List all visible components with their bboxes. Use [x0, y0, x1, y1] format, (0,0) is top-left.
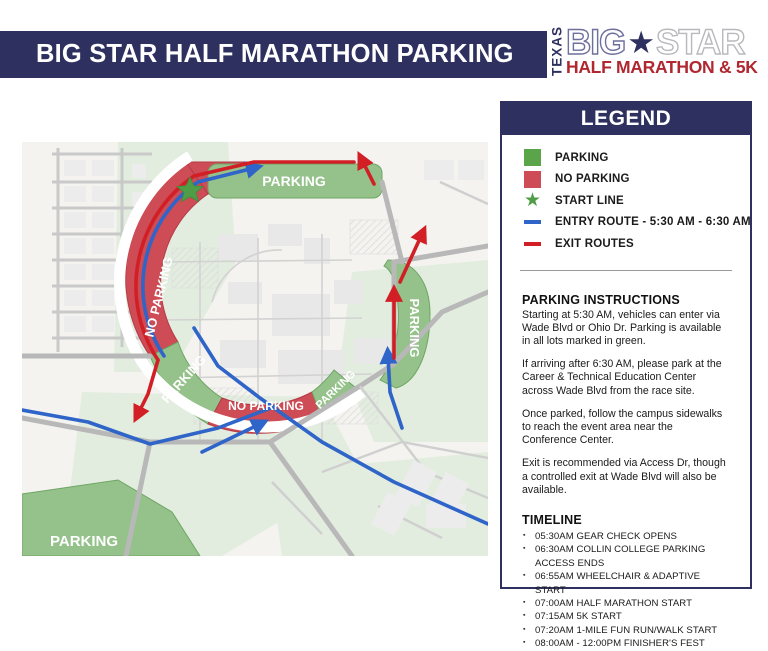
legend-item-start-line: ★ START LINE — [524, 190, 750, 212]
legend-item-exit-routes: EXIT ROUTES — [524, 233, 750, 255]
legend-item-parking: PARKING — [524, 147, 750, 169]
logo-star-text: STAR — [656, 25, 745, 60]
start-line-star-icon: ★ — [524, 192, 541, 209]
map-canvas[interactable]: NO PARKING PARKING NO PARKING PARKING PA… — [22, 142, 488, 556]
header-bar: BIG STAR HALF MARATHON PARKING — [0, 31, 547, 78]
timeline-event: 07:00AM HALF MARATHON START — [522, 597, 730, 610]
timeline-event: 06:30AM COLLIN COLLEGE PARKING ACCESS EN… — [522, 543, 730, 570]
parking-swatch-icon — [524, 149, 541, 166]
legend-title: LEGEND — [581, 107, 672, 131]
no-parking-swatch-icon — [524, 171, 541, 188]
legend-item-no-parking: NO PARKING — [524, 169, 750, 191]
timeline-event: 07:15AM 5K START — [522, 610, 730, 623]
page-title: BIG STAR HALF MARATHON PARKING — [0, 40, 514, 69]
timeline-event-list: 05:30AM GEAR CHECK OPENS 06:30AM COLLIN … — [522, 530, 730, 651]
legend-label-exit-routes: EXIT ROUTES — [555, 238, 634, 250]
map-label-parking-north: PARKING — [262, 173, 326, 189]
instructions-paragraph: Exit is recommended via Access Dr, thoug… — [522, 457, 730, 497]
entry-route-line-icon — [524, 220, 541, 224]
map-label-parking-east: PARKING — [407, 299, 422, 358]
parking-map[interactable]: NO PARKING PARKING NO PARKING PARKING PA… — [22, 142, 488, 556]
timeline-event: 06:55AM WHEELCHAIR & ADAPTIVE START — [522, 570, 730, 597]
instructions-paragraph: Starting at 5:30 AM, vehicles can enter … — [522, 309, 730, 349]
logo-texas-text: TEXAS — [548, 28, 566, 74]
star-icon: ★ — [627, 27, 655, 58]
timeline-event: 08:00AM - 12:00PM FINISHER'S FEST — [522, 637, 730, 650]
timeline-event: 07:20AM 1-MILE FUN RUN/WALK START — [522, 624, 730, 637]
exit-route-line-icon — [524, 242, 541, 246]
instructions-title: PARKING INSTRUCTIONS — [522, 293, 730, 307]
legend-label-no-parking: NO PARKING — [555, 173, 630, 185]
legend-panel: LEGEND PARKING NO PARKING ★ START LINE E… — [500, 101, 752, 589]
legend-label-start-line: START LINE — [555, 195, 624, 207]
map-label-no-parking-south: NO PARKING — [228, 399, 304, 413]
timeline-section: TIMELINE 05:30AM GEAR CHECK OPENS 06:30A… — [502, 497, 750, 651]
logo-big-text: BIG — [566, 25, 625, 60]
legend-item-entry-route: ENTRY ROUTE - 5:30 AM - 6:30 AM — [524, 212, 750, 234]
logo-subtitle: HALF MARATHON & 5K — [566, 57, 748, 78]
event-logo: TEXAS BIG ★ STAR HALF MARATHON & 5K — [548, 22, 748, 84]
legend-header: LEGEND — [502, 103, 750, 135]
instructions-paragraph: Once parked, follow the campus sidewalks… — [522, 408, 730, 448]
legend-item-list: PARKING NO PARKING ★ START LINE ENTRY RO… — [502, 135, 750, 261]
logo-bigstar-wordmark: BIG ★ STAR — [566, 22, 748, 62]
parking-instructions-section: PARKING INSTRUCTIONS Starting at 5:30 AM… — [502, 271, 750, 497]
legend-label-parking: PARKING — [555, 152, 609, 164]
timeline-title: TIMELINE — [522, 513, 730, 527]
legend-label-entry-route: ENTRY ROUTE - 5:30 AM - 6:30 AM — [555, 216, 751, 228]
map-label-parking-bottom-left: PARKING — [50, 533, 118, 550]
timeline-event: 05:30AM GEAR CHECK OPENS — [522, 530, 730, 543]
instructions-paragraph: If arriving after 6:30 AM, please park a… — [522, 358, 730, 398]
